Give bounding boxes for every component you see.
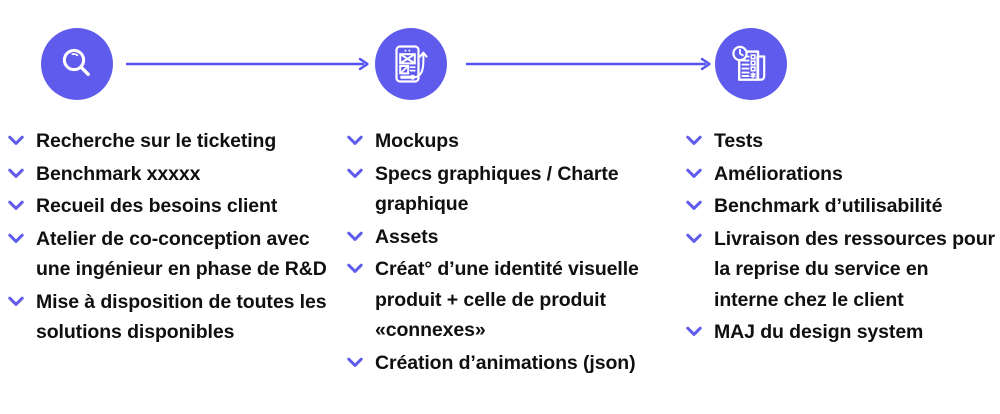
list-item[interactable]: Mise à disposition de toutes les solutio… bbox=[8, 287, 328, 348]
list-item[interactable]: Améliorations bbox=[686, 159, 998, 190]
step-3-list: Tests Améliorations bbox=[686, 126, 998, 348]
chevron-down-icon bbox=[686, 233, 702, 244]
list-item-label: Benchmark d’utilisabilité bbox=[714, 195, 942, 217]
step-3-icon-circle bbox=[715, 28, 787, 100]
step-1-column: Recherche sur le ticketing Benchmark xxx… bbox=[8, 126, 328, 350]
list-item-label: Mockups bbox=[375, 130, 459, 152]
chevron-down-icon bbox=[347, 168, 363, 179]
search-icon bbox=[58, 45, 96, 83]
step-3-column: Tests Améliorations bbox=[686, 126, 998, 350]
mobile-wireframe-icon bbox=[390, 43, 432, 85]
list-item-label: Tests bbox=[714, 130, 763, 152]
list-item[interactable]: Création d’animations (json) bbox=[347, 348, 665, 379]
list-item[interactable]: MAJ du design system bbox=[686, 317, 998, 348]
list-item-label: Atelier de co-conception avec une ingéni… bbox=[36, 228, 327, 281]
list-item-label: Création d’animations (json) bbox=[375, 352, 635, 374]
connector-2 bbox=[466, 57, 712, 71]
chevron-down-icon bbox=[8, 200, 24, 211]
diagram-canvas: Recherche sur le ticketing Benchmark xxx… bbox=[0, 0, 1000, 414]
chevron-down-icon bbox=[8, 168, 24, 179]
chevron-down-icon bbox=[8, 296, 24, 307]
list-item-label: Mise à disposition de toutes les solutio… bbox=[36, 291, 326, 344]
list-item[interactable]: Recueil des besoins client bbox=[8, 191, 328, 222]
document-clock-icon bbox=[730, 43, 772, 85]
list-item-label: MAJ du design system bbox=[714, 321, 923, 343]
list-item[interactable]: Recherche sur le ticketing bbox=[8, 126, 328, 157]
arrow-right-icon bbox=[126, 57, 370, 71]
list-item-label: Livraison des ressources pour la reprise… bbox=[714, 228, 995, 311]
list-item[interactable]: Tests bbox=[686, 126, 998, 157]
chevron-down-icon bbox=[8, 233, 24, 244]
arrow-right-icon bbox=[466, 57, 712, 71]
step-2-column: Mockups Specs graphiques / Charte graphi… bbox=[347, 126, 665, 380]
chevron-down-icon bbox=[347, 231, 363, 242]
list-item-label: Recueil des besoins client bbox=[36, 195, 277, 217]
list-item[interactable]: Assets bbox=[347, 222, 665, 253]
list-item[interactable]: Créat° d’une identité visuelle produit +… bbox=[347, 254, 665, 346]
list-item[interactable]: Benchmark d’utilisabilité bbox=[686, 191, 998, 222]
chevron-down-icon bbox=[347, 263, 363, 274]
list-item-label: Benchmark xxxxx bbox=[36, 163, 200, 185]
list-item[interactable]: Benchmark xxxxx bbox=[8, 159, 328, 190]
list-item-label: Créat° d’une identité visuelle produit +… bbox=[375, 258, 639, 341]
list-item[interactable]: Atelier de co-conception avec une ingéni… bbox=[8, 224, 328, 285]
chevron-down-icon bbox=[347, 357, 363, 368]
list-item-label: Améliorations bbox=[714, 163, 843, 185]
process-icon-row bbox=[0, 0, 1000, 128]
step-2-icon-circle bbox=[375, 28, 447, 100]
step-2-list: Mockups Specs graphiques / Charte graphi… bbox=[347, 126, 665, 378]
step-1-icon-circle bbox=[41, 28, 113, 100]
list-item-label: Assets bbox=[375, 226, 438, 248]
connector-1 bbox=[126, 57, 370, 71]
chevron-down-icon bbox=[686, 326, 702, 337]
list-item[interactable]: Specs graphiques / Charte graphique bbox=[347, 159, 665, 220]
chevron-down-icon bbox=[686, 135, 702, 146]
chevron-down-icon bbox=[347, 135, 363, 146]
list-item-label: Recherche sur le ticketing bbox=[36, 130, 276, 152]
list-item[interactable]: Livraison des ressources pour la reprise… bbox=[686, 224, 998, 316]
chevron-down-icon bbox=[686, 200, 702, 211]
step-1-list: Recherche sur le ticketing Benchmark xxx… bbox=[8, 126, 328, 348]
chevron-down-icon bbox=[8, 135, 24, 146]
list-item[interactable]: Mockups bbox=[347, 126, 665, 157]
chevron-down-icon bbox=[686, 168, 702, 179]
list-item-label: Specs graphiques / Charte graphique bbox=[375, 163, 619, 216]
